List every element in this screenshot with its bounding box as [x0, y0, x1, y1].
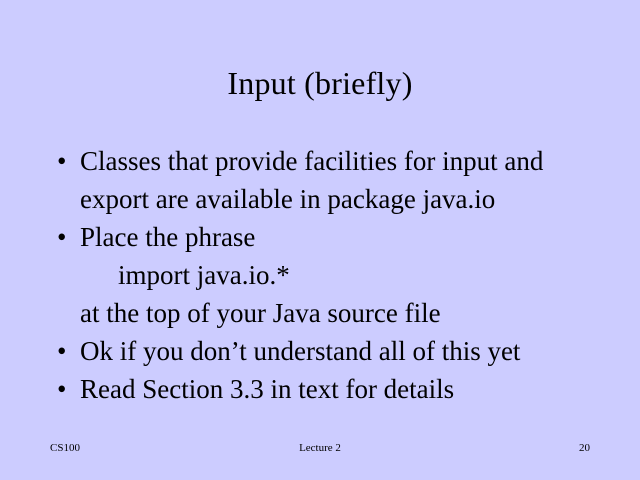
bullet-line: Ok if you don’t understand all of this y…	[80, 332, 610, 370]
list-item: • Read Section 3.3 in text for details	[50, 370, 610, 408]
bullet-line-code: import java.io.*	[80, 256, 610, 294]
bullet-line: Read Section 3.3 in text for details	[80, 370, 610, 408]
bullet-line: Classes that provide facilities for inpu…	[80, 142, 610, 180]
bullet-line: Place the phrase	[80, 218, 610, 256]
bullet-list: • Classes that provide facilities for in…	[50, 142, 610, 408]
bullet-line: at the top of your Java source file	[80, 294, 610, 332]
list-item: • Place the phrase import java.io.* at t…	[50, 218, 610, 332]
page-title: Input (briefly)	[0, 64, 640, 102]
list-item: • Classes that provide facilities for in…	[50, 142, 610, 218]
footer-page-number: 20	[579, 441, 590, 455]
footer-lecture-label: Lecture 2	[0, 441, 640, 455]
bullet-point-icon: •	[57, 218, 73, 256]
bullet-line: export are available in package java.io	[80, 180, 610, 218]
slide: Input (briefly) • Classes that provide f…	[0, 0, 640, 480]
bullet-point-icon: •	[57, 332, 73, 370]
list-item: • Ok if you don’t understand all of this…	[50, 332, 610, 370]
bullet-point-icon: •	[57, 370, 73, 408]
bullet-point-icon: •	[57, 142, 73, 180]
slide-footer: CS100 Lecture 2 20	[0, 441, 640, 461]
